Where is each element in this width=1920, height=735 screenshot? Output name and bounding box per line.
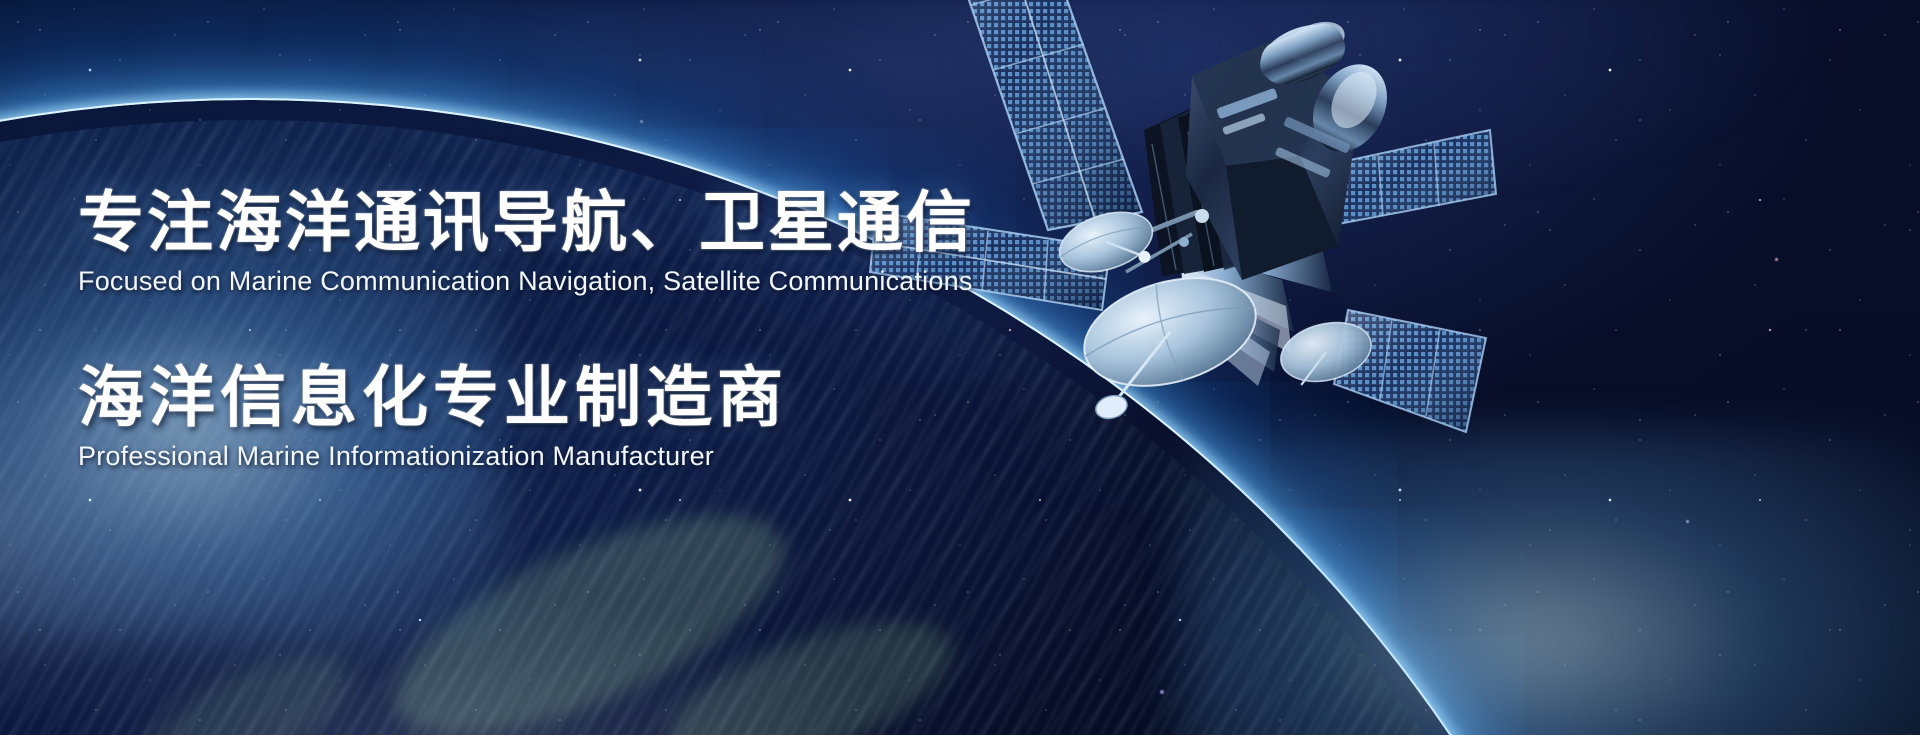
- tinted-star: [1345, 96, 1348, 99]
- headline-primary: 专注海洋通讯导航、卫星通信: [78, 188, 1078, 258]
- tinted-star: [1775, 258, 1778, 261]
- tinted-star: [1060, 28, 1064, 32]
- copy-block-informationization-manufacturer: 海洋信息化专业制造商 Professional Marine Informati…: [78, 363, 1078, 472]
- subline-primary: Focused on Marine Communication Navigati…: [78, 266, 1078, 297]
- hero-banner: 专注海洋通讯导航、卫星通信 Focused on Marine Communic…: [0, 0, 1920, 735]
- tinted-star: [1686, 520, 1689, 523]
- headline-secondary: 海洋信息化专业制造商: [78, 363, 1078, 433]
- banner-copy: 专注海洋通讯导航、卫星通信 Focused on Marine Communic…: [78, 188, 1078, 472]
- subline-secondary: Professional Marine Informationization M…: [78, 441, 1078, 472]
- copy-block-marine-communication: 专注海洋通讯导航、卫星通信 Focused on Marine Communic…: [78, 188, 1078, 297]
